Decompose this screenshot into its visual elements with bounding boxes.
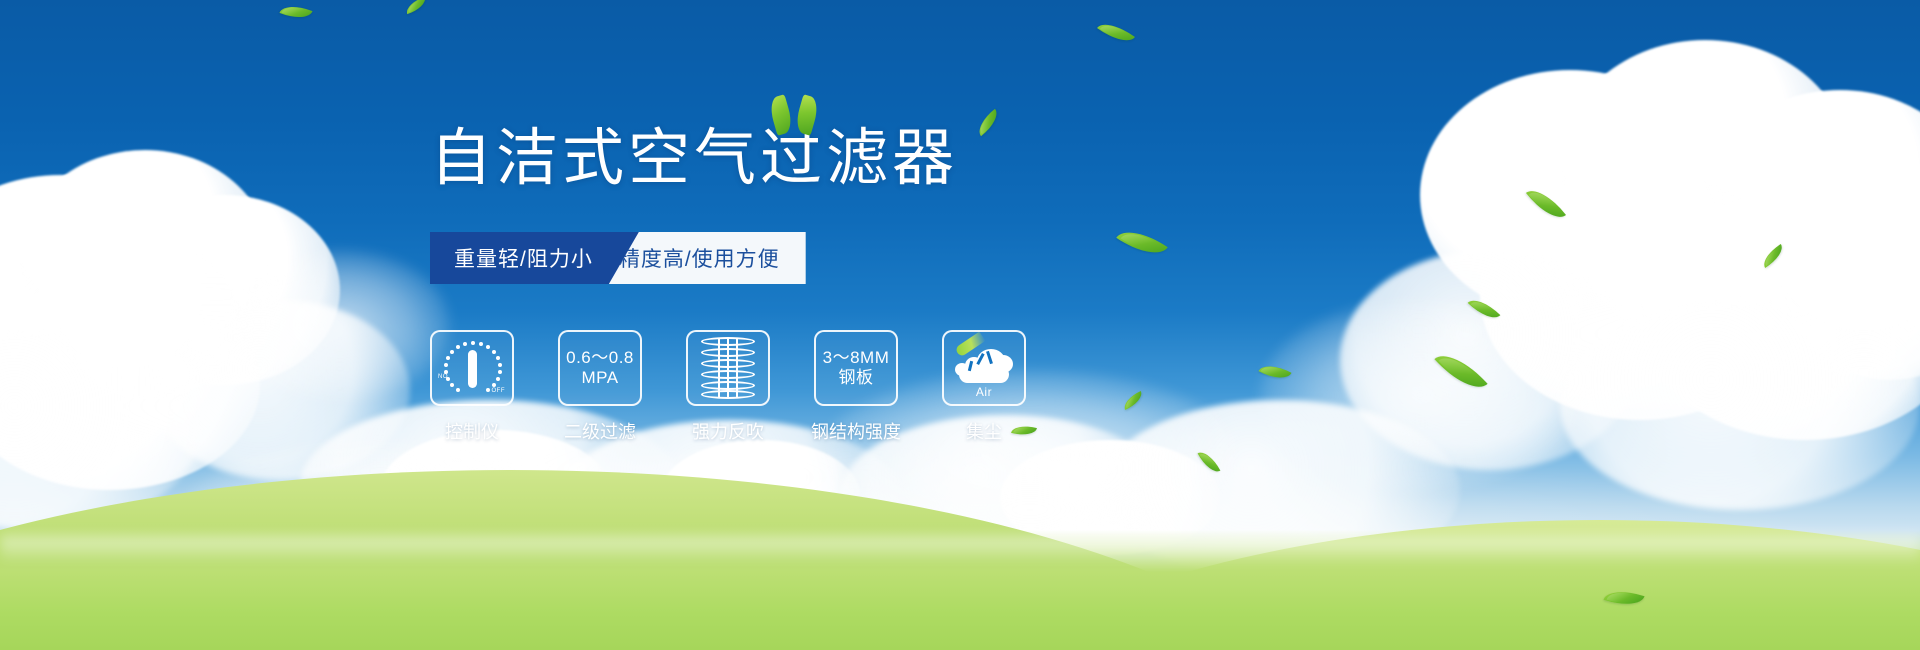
steel-value-line1: 3〜8MM	[823, 348, 890, 368]
air-label: Air	[953, 385, 1015, 399]
product-banner: 自洁式空气过滤器 重量轻/阻力小 精度高/使用方便	[0, 0, 1920, 650]
control-dial-icon: NO OFF	[439, 338, 505, 398]
feature-item-dustcollect[interactable]: Air 集尘	[942, 330, 1026, 444]
steel-value-line2: 钢板	[839, 368, 874, 388]
feature-icon-box: 0.6〜0.8 MPA	[558, 330, 642, 406]
feature-icon-box: NO OFF	[430, 330, 514, 406]
feature-caption: 二级过滤	[564, 418, 636, 444]
slogan-bar: 重量轻/阻力小 精度高/使用方便	[430, 232, 806, 284]
leaf-sprout-icon	[768, 94, 824, 136]
slogan-primary: 重量轻/阻力小	[430, 232, 639, 284]
feature-item-steel[interactable]: 3〜8MM 钢板 钢结构强度	[814, 330, 898, 444]
feature-icon-box: Air	[942, 330, 1026, 406]
dial-label-on: NO	[438, 374, 448, 380]
filter-coil-icon	[701, 337, 755, 399]
feature-list: NO OFF 控制仪 0.6〜0.8 MPA 二级过滤	[430, 330, 1026, 444]
feature-caption: 强力反吹	[692, 418, 764, 444]
air-cloud-icon: Air	[953, 341, 1015, 395]
title-block: 自洁式空气过滤器	[430, 128, 1070, 190]
pressure-value-line2: MPA	[581, 368, 618, 388]
banner-content: 自洁式空气过滤器 重量轻/阻力小 精度高/使用方便	[0, 0, 1920, 650]
feature-item-control[interactable]: NO OFF 控制仪	[430, 330, 514, 444]
feature-caption: 控制仪	[445, 418, 499, 444]
dial-label-off: OFF	[492, 388, 506, 394]
feature-icon-box: 3〜8MM 钢板	[814, 330, 898, 406]
pressure-value-line1: 0.6〜0.8	[566, 348, 634, 368]
page-title: 自洁式空气过滤器	[430, 128, 1070, 190]
slogan-secondary: 精度高/使用方便	[609, 232, 806, 284]
feature-caption: 集尘	[966, 418, 1002, 444]
feature-item-blowback[interactable]: 强力反吹	[686, 330, 770, 444]
feature-icon-box	[686, 330, 770, 406]
feature-caption: 钢结构强度	[811, 418, 901, 444]
feature-item-pressure[interactable]: 0.6〜0.8 MPA 二级过滤	[558, 330, 642, 444]
